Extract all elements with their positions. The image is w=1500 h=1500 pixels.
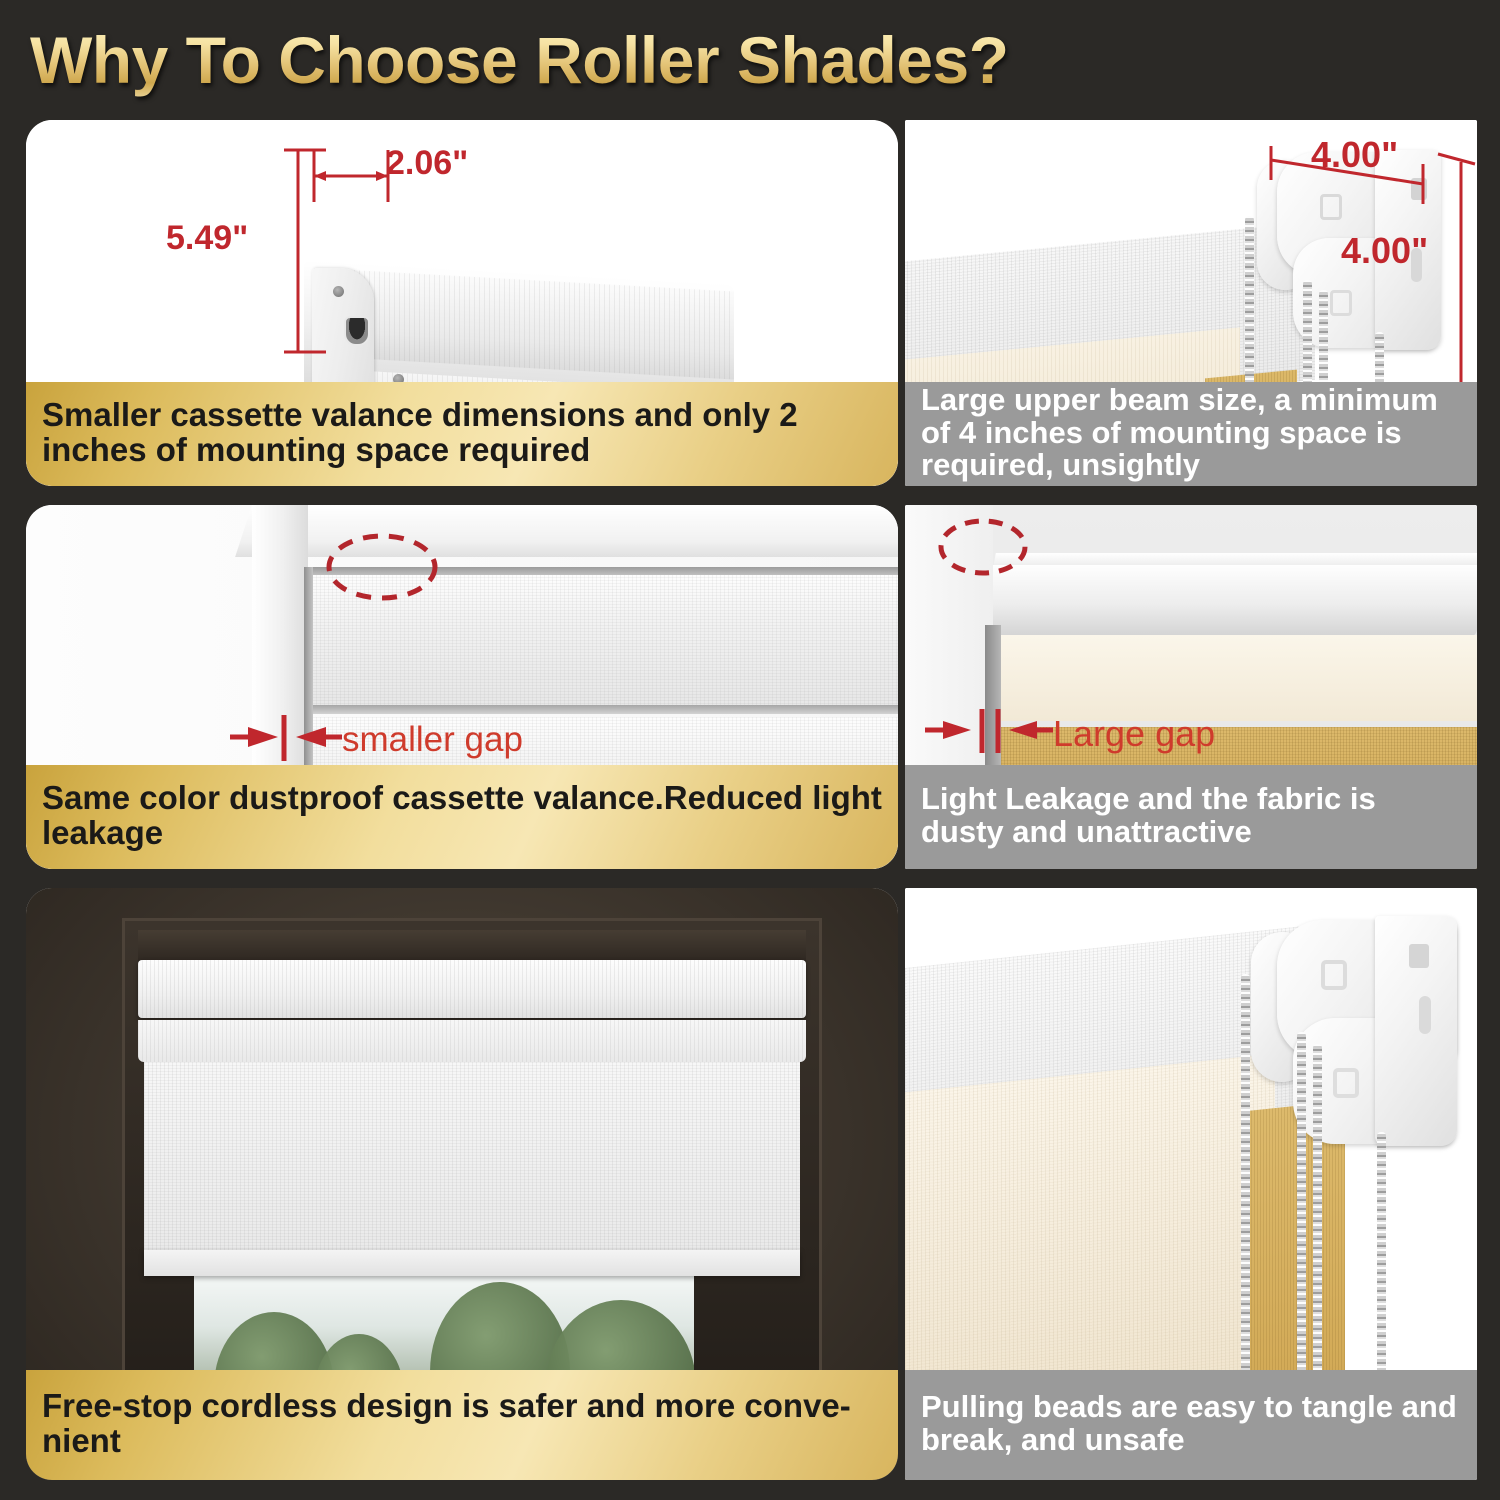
shade-fabric-cream bbox=[1001, 635, 1477, 721]
panel-3-caption-text: Same color dustproof cassette valance.Re… bbox=[42, 781, 882, 851]
dimension-label-width: 2.06" bbox=[386, 144, 468, 183]
shade-fabric bbox=[144, 1062, 800, 1258]
screw-icon bbox=[333, 286, 344, 297]
shade-fabric-upper bbox=[308, 575, 898, 707]
title-bar: Why To Choose Roller Shades? bbox=[0, 0, 1500, 112]
window-frame-top bbox=[235, 505, 898, 557]
end-cap-slot-icon bbox=[344, 316, 370, 346]
bracket-emboss-icon bbox=[1333, 1068, 1359, 1098]
dimension-label-width: 4.00" bbox=[1311, 134, 1398, 176]
panel-large-beam: 4.00" 4.00" Large upper beam size, a min… bbox=[905, 120, 1477, 486]
valance-rail-middle bbox=[306, 705, 898, 714]
bracket-slot-icon bbox=[1411, 178, 1427, 200]
panel-bead-chain: Pulling beads are easy to tangle and bre… bbox=[905, 888, 1477, 1480]
panel-cassette-dimensions: 2.06" 5.49" Smaller cassette valance dim… bbox=[26, 120, 898, 486]
bracket-emboss-icon bbox=[1330, 290, 1352, 316]
panel-4-caption: Light Leakage and the fabric is dusty an… bbox=[905, 765, 1477, 869]
panel-small-gap: smaller gap Same color dustproof cassett… bbox=[26, 505, 898, 869]
bracket-emboss-icon bbox=[1321, 960, 1347, 990]
panel-3-caption: Same color dustproof cassette valance.Re… bbox=[26, 765, 898, 869]
bracket-emboss-icon bbox=[1320, 194, 1342, 220]
panel-large-gap: Large gap Light Leakage and the fabric i… bbox=[905, 505, 1477, 869]
panel-2-caption-text: Large upper beam size, a minimum of 4 in… bbox=[921, 384, 1461, 483]
cassette-valance bbox=[138, 960, 806, 1018]
panel-6-caption-text: Pulling beads are easy to tangle and bre… bbox=[921, 1391, 1461, 1457]
shade-bottom-rail bbox=[144, 1250, 800, 1276]
smaller-gap-label: smaller gap bbox=[342, 720, 523, 760]
panel-cordless-design: Free-stop cordless design is safer and m… bbox=[26, 888, 898, 1480]
dimension-label-height: 4.00" bbox=[1341, 230, 1428, 272]
panel-1-caption: Smaller cassette valance dimensions and … bbox=[26, 382, 898, 486]
panel-5-caption-text: Free-stop cordless design is safer and m… bbox=[42, 1389, 882, 1459]
panel-6-caption: Pulling beads are easy to tangle and bre… bbox=[905, 1370, 1477, 1480]
bracket-slot-icon bbox=[1419, 996, 1431, 1034]
window-header-rail bbox=[138, 930, 806, 962]
dimension-label-height: 5.49" bbox=[166, 219, 248, 258]
panel-1-caption-text: Smaller cassette valance dimensions and … bbox=[42, 398, 882, 468]
panel-5-caption: Free-stop cordless design is safer and m… bbox=[26, 1370, 898, 1480]
large-gap-label: Large gap bbox=[1053, 713, 1215, 755]
cassette-valance-lower bbox=[138, 1020, 806, 1062]
page-title: Why To Choose Roller Shades? bbox=[30, 22, 1009, 98]
upper-beam bbox=[993, 565, 1477, 637]
panel-4-caption-text: Light Leakage and the fabric is dusty an… bbox=[921, 783, 1461, 849]
bracket-slot-icon bbox=[1409, 944, 1429, 968]
panel-2-caption: Large upper beam size, a minimum of 4 in… bbox=[905, 382, 1477, 486]
